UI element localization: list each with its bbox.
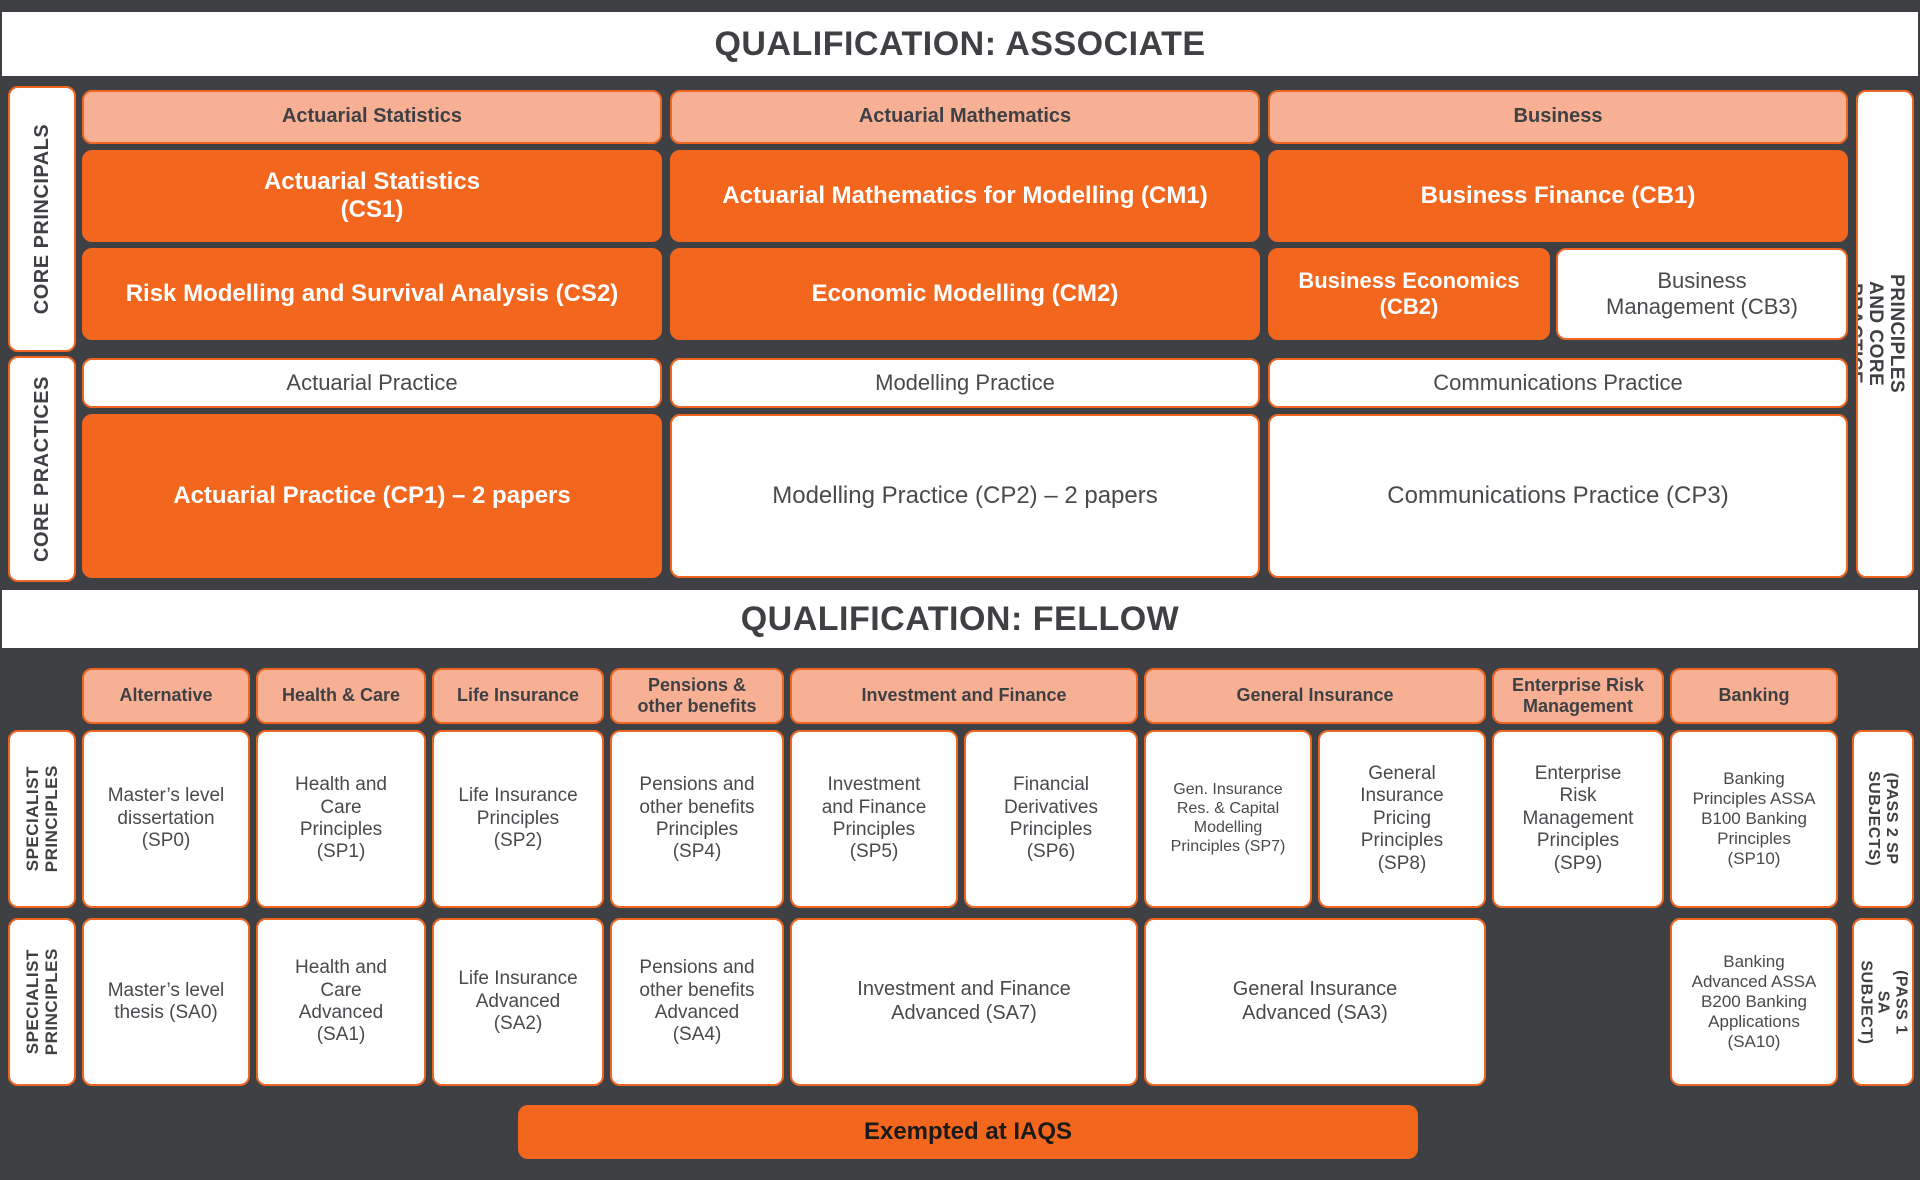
principals-header-actuarial-statistics: Actuarial Statistics	[82, 90, 662, 144]
principals-header-actuarial-mathematics: Actuarial Mathematics	[670, 90, 1260, 144]
subject-cs1: Actuarial Statistics (CS1)	[82, 150, 662, 242]
row-label-core-practices: CORE PRACTICES	[8, 356, 76, 582]
subject-sp9: Enterprise Risk Management Principles (S…	[1492, 730, 1664, 908]
associate-pass-requirement-text: (PASS ALL CORE PRINCIPLES AND CORE PRACT…	[1856, 274, 1914, 393]
subject-sa0: Master’s level thesis (SA0)	[82, 918, 250, 1086]
subject-sp0: Master’s level dissertation (SP0)	[82, 730, 250, 908]
fellow-sa-pass-requirement-text: (PASS 1 SA SUBJECT)	[1857, 960, 1910, 1044]
associate-pass-requirement-note: (PASS ALL CORE PRINCIPLES AND CORE PRACT…	[1856, 90, 1914, 578]
subject-cm1: Actuarial Mathematics for Modelling (CM1…	[670, 150, 1260, 242]
fellow-sp-pass-requirement-text: (PASS 2 SP SUBJECTS)	[1865, 771, 1900, 866]
subject-cp2: Modelling Practice (CP2) – 2 papers	[670, 414, 1260, 578]
practices-header-actuarial-practice: Actuarial Practice	[82, 358, 662, 408]
subject-sp6: Financial Derivatives Principles (SP6)	[964, 730, 1138, 908]
associate-title-bar: QUALIFICATION: ASSOCIATE	[0, 10, 1920, 78]
subject-cp1: Actuarial Practice (CP1) – 2 papers	[82, 414, 662, 578]
fellow-header-banking: Banking	[1670, 668, 1838, 724]
practices-header-modelling-practice: Modelling Practice	[670, 358, 1260, 408]
subject-sp10: Banking Principles ASSA B100 Banking Pri…	[1670, 730, 1838, 908]
subject-sp2: Life Insurance Principles (SP2)	[432, 730, 604, 908]
subject-cp3: Communications Practice (CP3)	[1268, 414, 1848, 578]
subject-sa4: Pensions and other benefits Advanced (SA…	[610, 918, 784, 1086]
fellow-sp-pass-requirement-note: (PASS 2 SP SUBJECTS)	[1852, 730, 1914, 908]
subject-cb2: Business Economics (CB2)	[1268, 248, 1550, 340]
subject-sp5: Investment and Finance Principles (SP5)	[790, 730, 958, 908]
fellow-header-pensions-other-benefits: Pensions & other benefits	[610, 668, 784, 724]
subject-sa1: Health and Care Advanced (SA1)	[256, 918, 426, 1086]
principals-header-business: Business	[1268, 90, 1848, 144]
subject-sp4: Pensions and other benefits Principles (…	[610, 730, 784, 908]
qualification-pathway-diagram: QUALIFICATION: ASSOCIATE CORE PRINCIPALS…	[0, 0, 1920, 1180]
row-label-specialist-principles-sa-text: SPECIALIST PRINCIPLES	[23, 948, 60, 1055]
subject-sa10: Banking Advanced ASSA B200 Banking Appli…	[1670, 918, 1838, 1086]
fellow-header-health-and-care: Health & Care	[256, 668, 426, 724]
fellow-header-general-insurance: General Insurance	[1144, 668, 1486, 724]
fellow-title-bar: QUALIFICATION: FELLOW	[0, 588, 1920, 650]
row-label-specialist-principles-sp-text: SPECIALIST PRINCIPLES	[23, 765, 60, 872]
subject-sp7: Gen. Insurance Res. & Capital Modelling …	[1144, 730, 1312, 908]
row-label-core-practices-text: CORE PRACTICES	[31, 376, 53, 562]
row-label-core-principals: CORE PRINCIPALS	[8, 86, 76, 352]
fellow-header-enterprise-risk-management: Enterprise Risk Management	[1492, 668, 1664, 724]
subject-cm2: Economic Modelling (CM2)	[670, 248, 1260, 340]
subject-sa3: General Insurance Advanced (SA3)	[1144, 918, 1486, 1086]
fellow-sa-pass-requirement-note: (PASS 1 SA SUBJECT)	[1852, 918, 1914, 1086]
subject-sp1: Health and Care Principles (SP1)	[256, 730, 426, 908]
subject-sp8: General Insurance Pricing Principles (SP…	[1318, 730, 1486, 908]
subject-cb3: Business Management (CB3)	[1556, 248, 1848, 340]
subject-sa2: Life Insurance Advanced (SA2)	[432, 918, 604, 1086]
subject-cs2: Risk Modelling and Survival Analysis (CS…	[82, 248, 662, 340]
fellow-title: QUALIFICATION: FELLOW	[741, 600, 1180, 639]
associate-title: QUALIFICATION: ASSOCIATE	[714, 25, 1205, 64]
exempted-at-iaqs-banner: Exempted at IAQS	[518, 1105, 1418, 1159]
exempted-at-iaqs-label: Exempted at IAQS	[864, 1118, 1072, 1146]
subject-cb1: Business Finance (CB1)	[1268, 150, 1848, 242]
fellow-header-life-insurance: Life Insurance	[432, 668, 604, 724]
subject-sa7: Investment and Finance Advanced (SA7)	[790, 918, 1138, 1086]
row-label-specialist-principles-sa: SPECIALIST PRINCIPLES	[8, 918, 76, 1086]
row-label-core-principals-text: CORE PRINCIPALS	[31, 124, 53, 314]
row-label-specialist-principles-sp: SPECIALIST PRINCIPLES	[8, 730, 76, 908]
fellow-header-alternative: Alternative	[82, 668, 250, 724]
practices-header-communications-practice: Communications Practice	[1268, 358, 1848, 408]
fellow-header-investment-and-finance: Investment and Finance	[790, 668, 1138, 724]
